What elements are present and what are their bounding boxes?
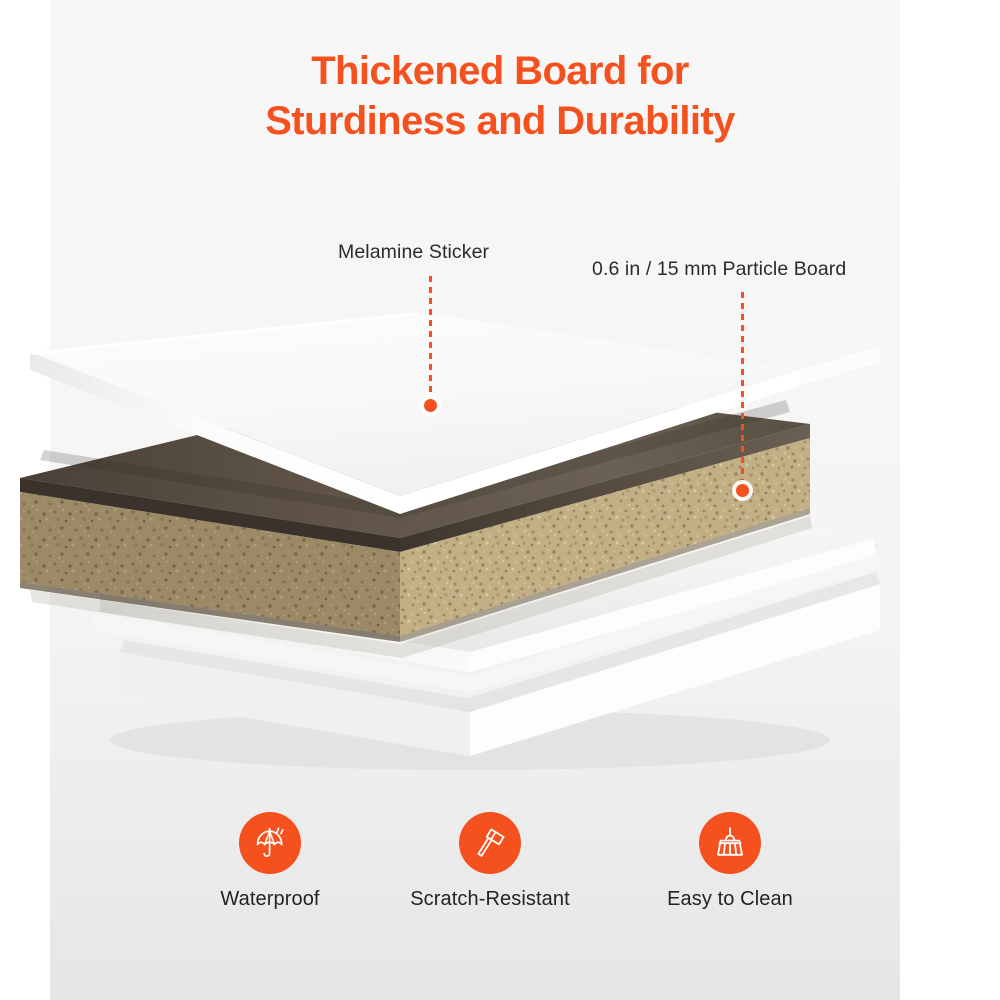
feature-caption-scratch-resistant: Scratch-Resistant (410, 888, 570, 911)
exploded-board-illustration (0, 300, 1000, 780)
umbrella-icon (251, 824, 289, 862)
page-title: Thickened Board for Sturdiness and Durab… (0, 46, 1000, 146)
feature-caption-waterproof: Waterproof (220, 888, 319, 911)
callout-label-particle-board: 0.6 in / 15 mm Particle Board (592, 258, 846, 281)
feature-item-scratch-resistant: Scratch-Resistant (390, 812, 590, 911)
title-line-1: Thickened Board for (0, 46, 1000, 96)
leader-dot-icon (424, 399, 437, 412)
feature-badge-waterproof (239, 812, 301, 874)
feature-item-waterproof: Waterproof (200, 812, 340, 911)
feature-caption-easy-to-clean: Easy to Clean (667, 888, 793, 911)
infographic-page: Thickened Board for Sturdiness and Durab… (0, 0, 1000, 1000)
feature-badge-easy-to-clean (699, 812, 761, 874)
broom-icon (711, 824, 749, 862)
title-line-2: Sturdiness and Durability (0, 96, 1000, 146)
callout-label-melamine: Melamine Sticker (338, 241, 489, 264)
feature-badge-scratch-resistant (459, 812, 521, 874)
hammer-icon (471, 824, 509, 862)
leader-dot-icon (736, 484, 749, 497)
feature-item-easy-to-clean: Easy to Clean (640, 812, 820, 911)
dashed-leader-line-icon (741, 292, 744, 486)
feature-list: Waterproof (200, 812, 820, 932)
dashed-leader-line-icon (429, 276, 432, 400)
top-sheet-right-strip (800, 346, 880, 386)
